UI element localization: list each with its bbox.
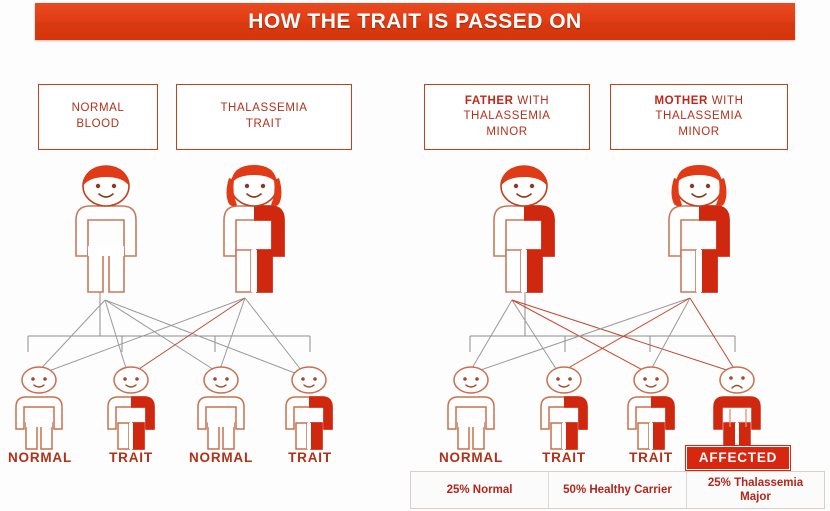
child-caption-right-3: TRAIT — [603, 450, 699, 465]
child-caption-right-1: NORMAL — [423, 450, 519, 465]
child-figure-right-4-affected — [706, 365, 768, 451]
child-caption-left-2: TRAIT — [83, 450, 179, 465]
label-rest-word: WITH — [712, 95, 744, 107]
page-title: HOW THE TRAIT IS PASSED ON — [248, 10, 581, 34]
label-box-mother-minor: MOTHER WITH THALASSEMIA MINOR — [610, 84, 788, 150]
label-bold-word: MOTHER — [654, 95, 707, 107]
child-figure-left-3 — [190, 365, 252, 451]
parent-figure-father-minor — [480, 160, 568, 295]
child-figure-left-4 — [278, 365, 340, 451]
label-line-2: THALASSEMIA — [655, 110, 742, 122]
child-figure-left-1 — [8, 365, 70, 451]
child-figure-right-3 — [620, 365, 682, 451]
child-figure-right-1 — [440, 365, 502, 451]
child-caption-left-1: NORMAL — [0, 450, 88, 465]
label-line-2: THALASSEMIA — [463, 110, 550, 122]
child-caption-left-4: TRAIT — [262, 450, 358, 465]
child-caption-right-2: TRAIT — [516, 450, 612, 465]
parent-figure-normal-blood — [62, 160, 150, 295]
legend-cell-major: 25% Thalassemia Major — [687, 472, 824, 508]
label-bold-word: FATHER — [465, 95, 514, 107]
child-figure-right-2 — [533, 365, 595, 451]
header-banner: HOW THE TRAIT IS PASSED ON — [35, 3, 795, 40]
child-figure-left-2 — [100, 365, 162, 451]
legend-cell-normal: 25% Normal — [411, 472, 549, 508]
label-box-thalassemia-trait: THALASSEMIA TRAIT — [176, 84, 352, 150]
legend-bar: 25% Normal 50% Healthy Carrier 25% Thala… — [410, 471, 825, 509]
label-line-1: NORMAL — [72, 102, 125, 114]
child-caption-right-4-affected-badge: AFFECTED — [686, 446, 790, 470]
parent-figure-mother-minor — [655, 160, 743, 295]
label-box-father-minor: FATHER WITH THALASSEMIA MINOR — [424, 84, 590, 150]
label-rest-word: WITH — [517, 95, 549, 107]
legend-cell-carrier: 50% Healthy Carrier — [549, 472, 687, 508]
label-box-normal-blood: NORMAL BLOOD — [38, 84, 158, 150]
label-line-3: MINOR — [486, 126, 527, 138]
label-line-2: TRAIT — [246, 118, 282, 130]
label-line-3: MINOR — [678, 126, 719, 138]
label-line-1: THALASSEMIA — [220, 102, 307, 114]
label-line-2: BLOOD — [76, 118, 119, 130]
parent-figure-thalassemia-trait — [210, 160, 298, 295]
child-caption-left-3: NORMAL — [173, 450, 269, 465]
